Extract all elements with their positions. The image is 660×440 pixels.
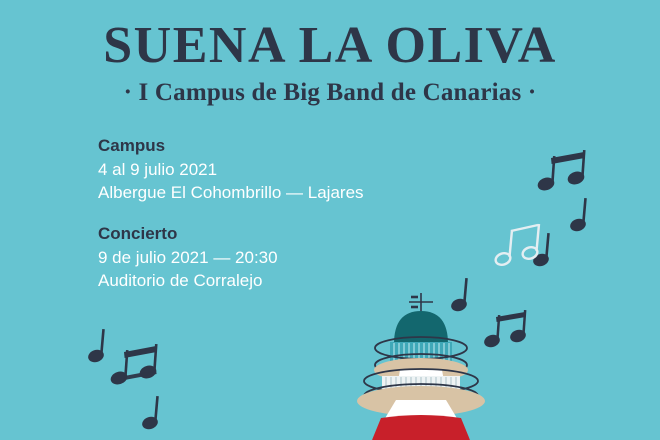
page-title: SUENA LA OLIVA xyxy=(0,18,660,74)
campus-dates: 4 al 9 julio 2021 xyxy=(98,158,364,181)
title-block: SUENA LA OLIVA · I Campus de Big Band de… xyxy=(0,18,660,108)
page-subtitle: · I Campus de Big Band de Canarias · xyxy=(0,78,660,108)
campus-heading: Campus xyxy=(98,134,364,157)
poster-canvas: SUENA LA OLIVA · I Campus de Big Band de… xyxy=(0,0,660,440)
concierto-venue: Auditorio de Corralejo xyxy=(98,269,364,292)
concierto-heading: Concierto xyxy=(98,222,364,245)
concierto-info-group: Concierto 9 de julio 2021 — 20:30 Audito… xyxy=(98,222,364,292)
campus-venue: Albergue El Cohombrillo — Lajares xyxy=(98,181,364,204)
event-info-block: Campus 4 al 9 julio 2021 Albergue El Coh… xyxy=(98,134,364,292)
concierto-dates: 9 de julio 2021 — 20:30 xyxy=(98,246,364,269)
campus-info-group: Campus 4 al 9 julio 2021 Albergue El Coh… xyxy=(98,134,364,204)
